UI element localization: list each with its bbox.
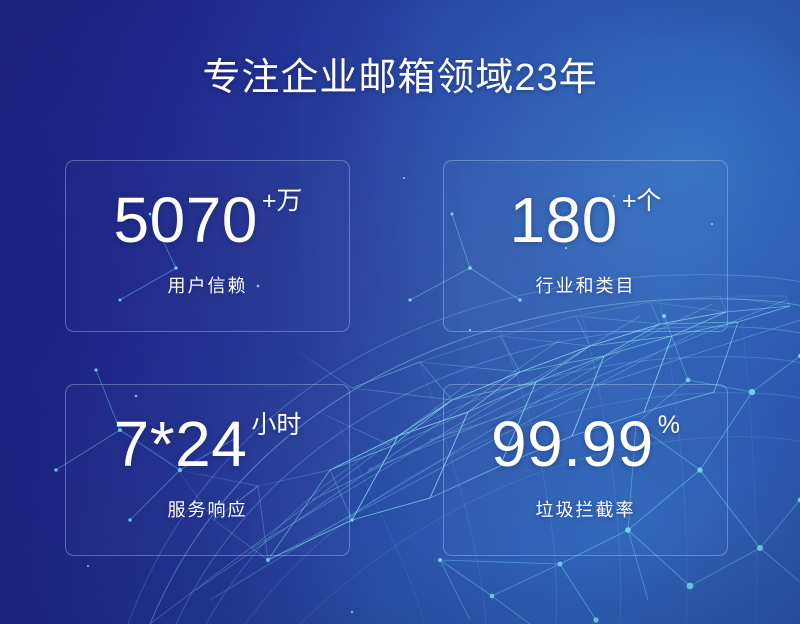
stat-value: 5070: [114, 185, 258, 255]
stat-card-spam-block-rate[interactable]: 99.99 % 垃圾拦截率: [443, 384, 728, 556]
stat-label: 垃圾拦截率: [444, 497, 727, 523]
stat-card-user-trust[interactable]: 5070 +万 用户信赖: [65, 160, 350, 332]
page-title: 专注企业邮箱领域23年: [0, 54, 800, 102]
stat-card-industries[interactable]: 180 +个 行业和类目: [443, 160, 728, 332]
stat-unit: +个: [622, 188, 662, 214]
banner-content: 专注企业邮箱领域23年 5070 +万 用户信赖 180 +个 行业和类目 7*…: [0, 0, 800, 624]
stat-unit: 小时: [251, 412, 301, 438]
stat-value: 7*24: [114, 409, 248, 479]
stats-card-grid: 5070 +万 用户信赖 180 +个 行业和类目 7*24 小时 服务响应: [65, 160, 728, 556]
stat-label: 用户信赖: [66, 273, 349, 299]
stat-value-row: 7*24 小时: [66, 409, 349, 483]
stat-label: 服务响应: [66, 497, 349, 523]
stat-unit: +万: [262, 188, 302, 214]
stat-value-row: 5070 +万: [66, 185, 349, 259]
stat-value: 99.99: [491, 409, 654, 479]
stat-unit: %: [658, 412, 680, 438]
stats-banner: 专注企业邮箱领域23年 5070 +万 用户信赖 180 +个 行业和类目 7*…: [0, 0, 800, 624]
stat-value: 180: [510, 185, 618, 255]
stat-value-row: 99.99 %: [444, 409, 727, 483]
stat-card-service-response[interactable]: 7*24 小时 服务响应: [65, 384, 350, 556]
stat-value-row: 180 +个: [444, 185, 727, 259]
stat-label: 行业和类目: [444, 273, 727, 299]
